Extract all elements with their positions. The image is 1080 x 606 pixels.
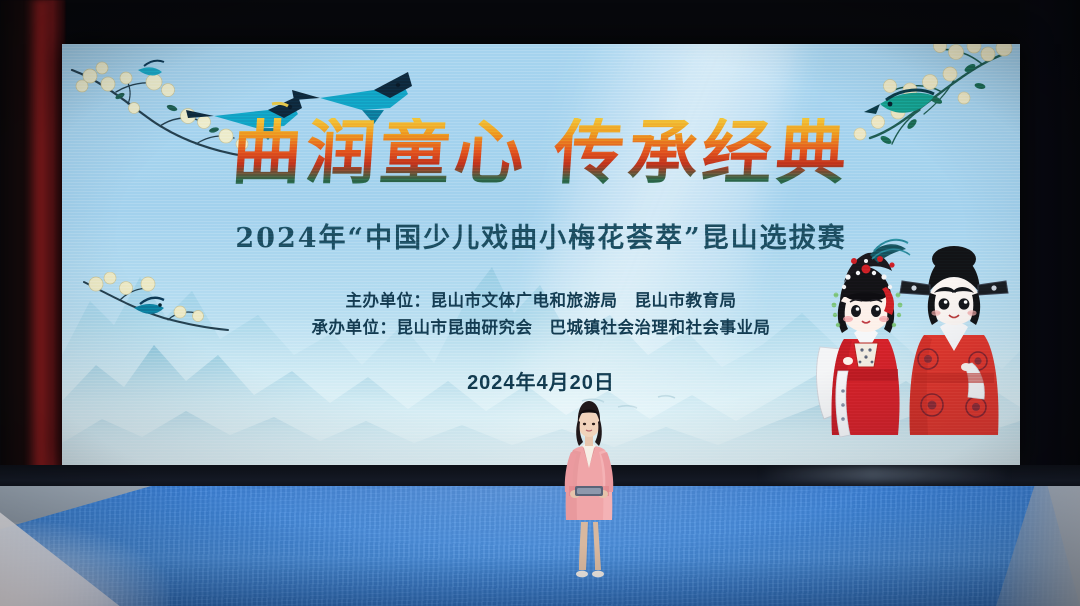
stage-curtain-left bbox=[0, 0, 66, 478]
event-host-figure bbox=[553, 396, 625, 586]
led-screen-content: 曲润童心传承经典 2024年“中国少儿戏曲小梅花荟萃”昆山选拔赛 主办单位：昆山… bbox=[62, 44, 1020, 465]
cue-card-tablet bbox=[575, 486, 603, 496]
floor-hotspot bbox=[0, 522, 170, 606]
page-title: 曲润童心传承经典 bbox=[62, 118, 1020, 188]
organizer-label: 主办单位： bbox=[346, 292, 431, 310]
title-line-a: 曲润童心 bbox=[229, 111, 531, 194]
co-organizer-values: 昆山市昆曲研究会 巴城镇社会治理和社会事业局 bbox=[397, 319, 771, 337]
opera-characters-illustration bbox=[814, 221, 1014, 465]
organizer-values: 昆山市文体广电和旅游局 昆山市教育局 bbox=[431, 292, 737, 310]
stage-wing-right bbox=[1018, 0, 1080, 470]
title-line-b: 传承经典 bbox=[551, 111, 853, 194]
stage-floor bbox=[0, 486, 1080, 606]
sheng-male-opera-character bbox=[900, 246, 1008, 435]
led-screen: 曲润童心传承经典 2024年“中国少儿戏曲小梅花荟萃”昆山选拔赛 主办单位：昆山… bbox=[62, 44, 1020, 465]
dan-female-opera-character bbox=[817, 240, 910, 437]
perched-bird-icon bbox=[138, 61, 164, 76]
apron-light-glow bbox=[760, 466, 1010, 482]
perched-bird-icon bbox=[864, 90, 934, 114]
carpet-light-sheen bbox=[180, 486, 880, 606]
co-organizer-label: 承办单位： bbox=[312, 319, 397, 337]
stage-event-photo: 曲润童心传承经典 2024年“中国少儿戏曲小梅花荟萃”昆山选拔赛 主办单位：昆山… bbox=[0, 0, 1080, 606]
